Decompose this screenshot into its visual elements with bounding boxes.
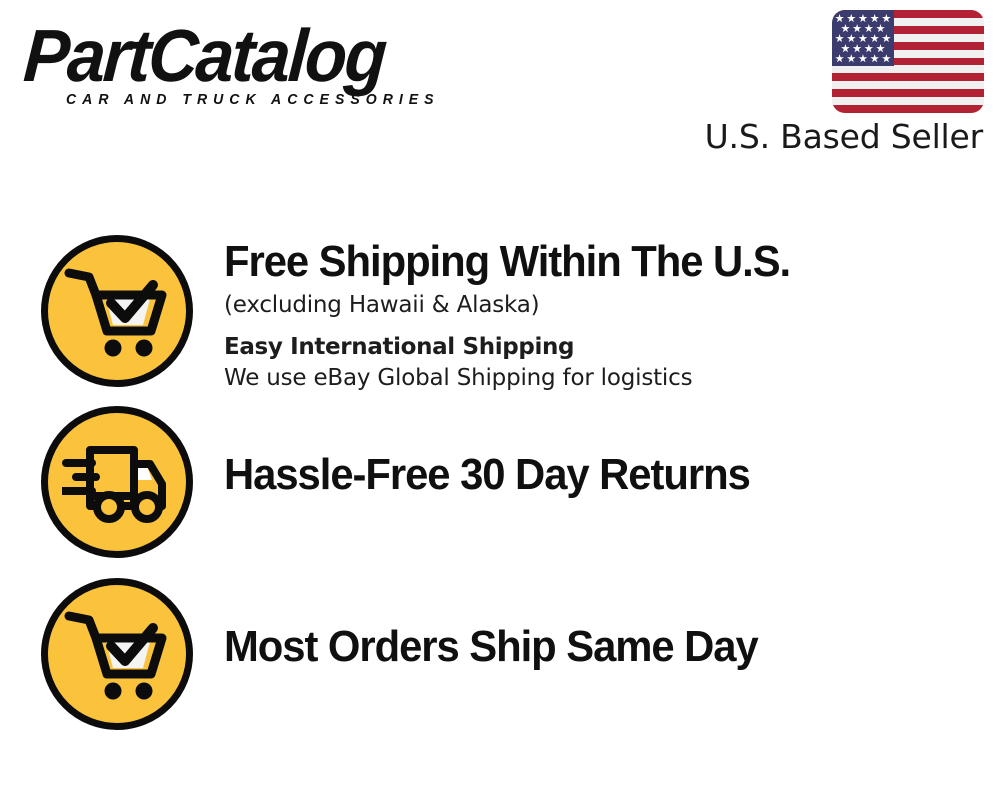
us-based-seller-label: U.S. Based Seller bbox=[684, 119, 983, 155]
us-flag-icon bbox=[832, 10, 984, 113]
benefit-item: Most Orders Ship Same Day bbox=[0, 578, 1000, 730]
benefit-subline-strong: Easy International Shipping bbox=[224, 333, 1000, 362]
benefit-headline: Most Orders Ship Same Day bbox=[224, 624, 961, 670]
benefit-headline: Hassle-Free 30 Day Returns bbox=[224, 452, 961, 498]
shopping-cart-check-icon bbox=[41, 578, 193, 730]
delivery-truck-icon bbox=[41, 406, 193, 558]
page-header: PartCatalog CAR AND TRUCK ACCESSORIES bbox=[0, 0, 1000, 175]
benefit-text-block: Most Orders Ship Same Day bbox=[193, 578, 1000, 670]
brand-wordmark: PartCatalog bbox=[22, 22, 464, 90]
benefit-text-block: Hassle-Free 30 Day Returns bbox=[193, 406, 1000, 498]
brand-tagline: CAR AND TRUCK ACCESSORIES bbox=[66, 92, 481, 108]
benefit-subline: We use eBay Global Shipping for logistic… bbox=[224, 364, 1000, 393]
benefit-text-block: Free Shipping Within The U.S. (excluding… bbox=[193, 235, 1000, 394]
shopping-cart-check-icon bbox=[41, 235, 193, 387]
us-based-seller-badge: U.S. Based Seller bbox=[684, 10, 984, 155]
benefit-subline: (excluding Hawaii & Alaska) bbox=[224, 291, 1000, 320]
flag-stars bbox=[832, 10, 894, 66]
brand-logo[interactable]: PartCatalog CAR AND TRUCK ACCESSORIES bbox=[24, 22, 494, 108]
benefit-item: Free Shipping Within The U.S. (excluding… bbox=[0, 235, 1000, 394]
benefit-item: Hassle-Free 30 Day Returns bbox=[0, 406, 1000, 558]
benefit-headline: Free Shipping Within The U.S. bbox=[224, 239, 961, 285]
